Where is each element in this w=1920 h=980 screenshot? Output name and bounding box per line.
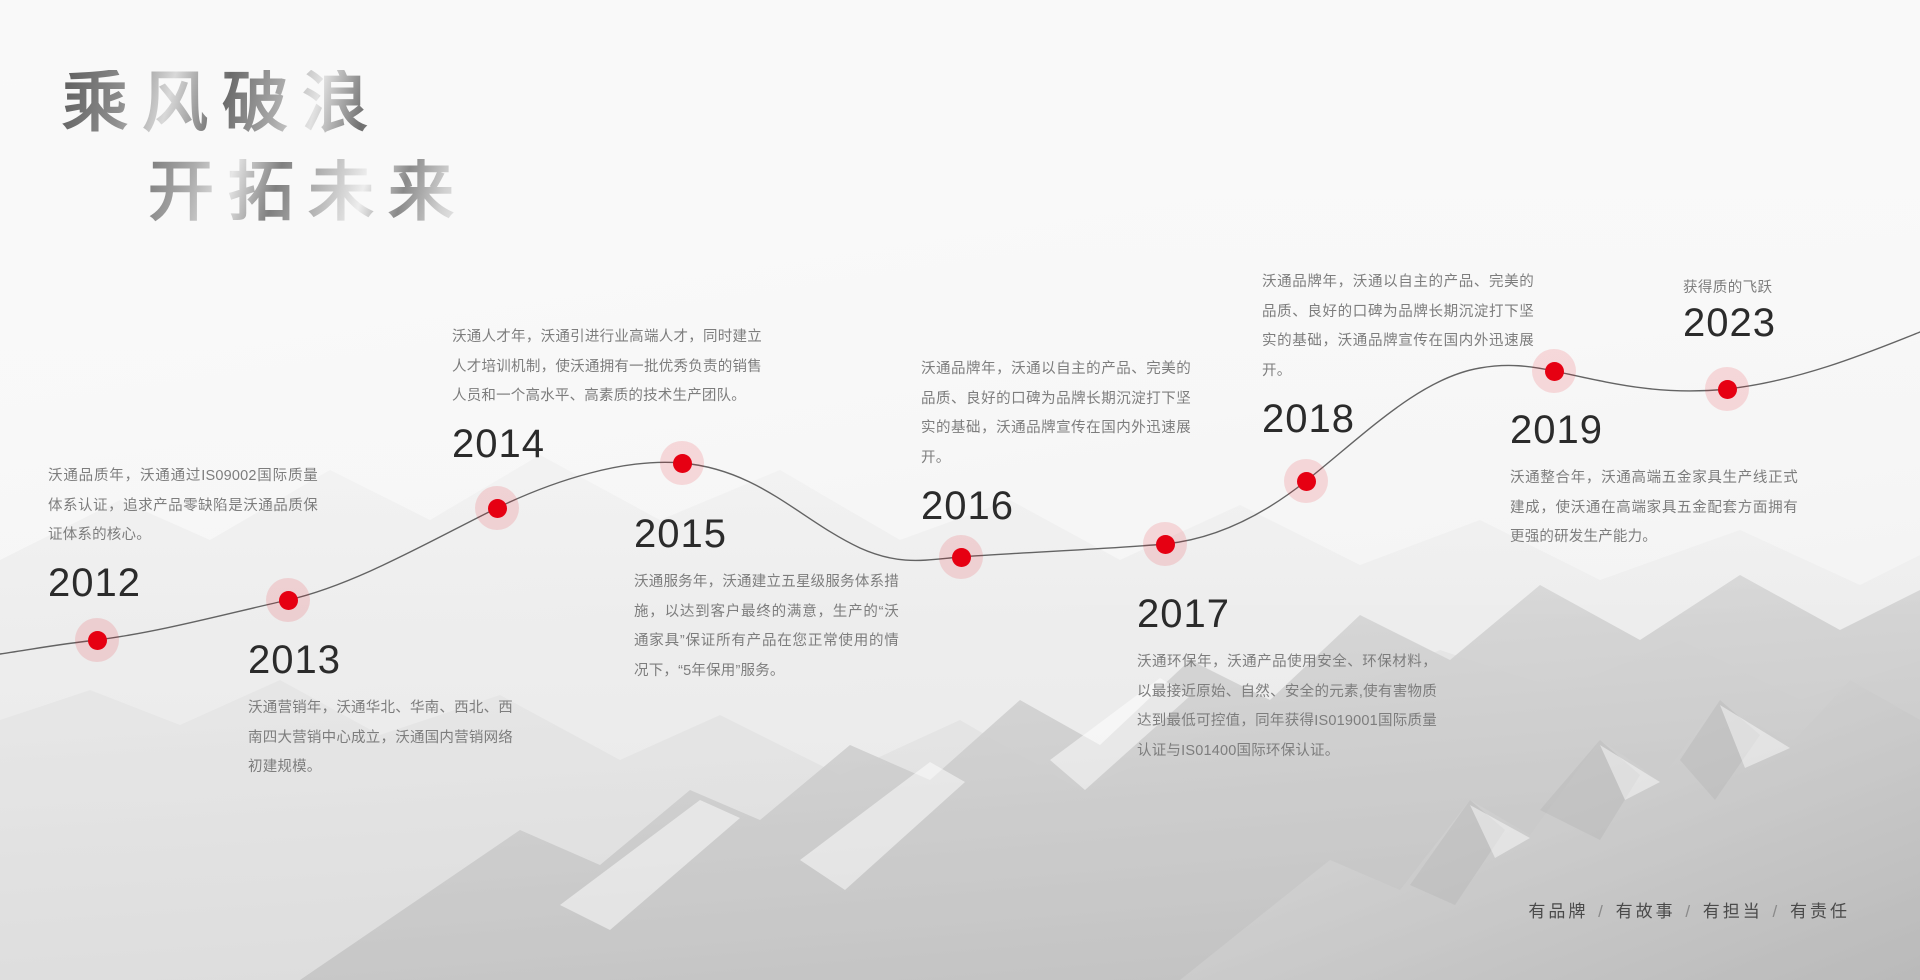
timeline-dot-2019[interactable] [1532, 349, 1576, 393]
timeline-poster: 乘风破浪 开拓未来 沃通品质年，沃通通过IS09002国际质量体系认证，追求产品… [0, 0, 1920, 980]
milestone-2014[interactable]: 沃通人才年，沃通引进行业高端人才，同时建立人才培训机制，使沃通拥有一批优秀负责的… [452, 323, 762, 466]
timeline-dot-2012[interactable] [75, 618, 119, 662]
milestone-2019-year: 2019 [1510, 408, 1798, 452]
milestone-2018-year: 2018 [1262, 397, 1534, 441]
milestone-2019[interactable]: 2019 沃通整合年，沃通高端五金家具生产线正式建成，使沃通在高端家具五金配套方… [1510, 408, 1798, 553]
timeline-dot-2014[interactable] [475, 486, 519, 530]
footer-tagline: 有品牌 / 有故事 / 有担当 / 有责任 [1528, 897, 1850, 922]
milestone-2017-year: 2017 [1137, 592, 1437, 636]
milestone-2013[interactable]: 2013 沃通营销年，沃通华北、华南、西北、西南四大营销中心成立，沃通国内营销网… [248, 638, 513, 783]
timeline-dot-2017[interactable] [1143, 522, 1187, 566]
milestone-2013-year: 2013 [248, 638, 513, 682]
poster-heading: 乘风破浪 开拓未来 [62, 70, 468, 227]
timeline-dot-2018[interactable] [1284, 459, 1328, 503]
milestone-2012[interactable]: 沃通品质年，沃通通过IS09002国际质量体系认证，追求产品零缺陷是沃通品质保证… [48, 462, 318, 605]
milestone-2023-year: 2023 [1683, 301, 1883, 345]
milestone-2014-description: 沃通人才年，沃通引进行业高端人才，同时建立人才培训机制，使沃通拥有一批优秀负责的… [452, 323, 762, 412]
tagline-part-story: 有故事 [1616, 902, 1676, 921]
tagline-part-commitment: 有担当 [1703, 902, 1763, 921]
milestone-2016-year: 2016 [921, 484, 1191, 528]
milestone-2015-description: 沃通服务年，沃通建立五星级服务体系措施，以达到客户最终的满意，生产的“沃通家具”… [634, 568, 899, 687]
tagline-part-brand: 有品牌 [1528, 902, 1588, 921]
milestone-2023-caption: 获得质的飞跃 [1683, 275, 1883, 301]
milestone-2014-year: 2014 [452, 422, 762, 466]
milestone-2015[interactable]: 2015 沃通服务年，沃通建立五星级服务体系措施，以达到客户最终的满意，生产的“… [634, 512, 899, 687]
heading-line-2: 开拓未来 [148, 159, 468, 226]
milestone-2018[interactable]: 沃通品牌年，沃通以自主的产品、完美的品质、良好的口碑为品牌长期沉淀打下坚实的基础… [1262, 268, 1534, 441]
tagline-separator-2: / [1683, 902, 1695, 921]
milestone-2015-year: 2015 [634, 512, 899, 556]
milestone-2012-year: 2012 [48, 561, 318, 605]
tagline-separator-3: / [1771, 902, 1783, 921]
milestone-2016[interactable]: 沃通品牌年，沃通以自主的产品、完美的品质、良好的口碑为品牌长期沉淀打下坚实的基础… [921, 355, 1191, 528]
milestone-2017-description: 沃通环保年，沃通产品使用安全、环保材料，以最接近原始、自然、安全的元素,使有害物… [1137, 648, 1437, 767]
milestone-2018-description: 沃通品牌年，沃通以自主的产品、完美的品质、良好的口碑为品牌长期沉淀打下坚实的基础… [1262, 268, 1534, 387]
milestone-2013-description: 沃通营销年，沃通华北、华南、西北、西南四大营销中心成立，沃通国内营销网络初建规模… [248, 694, 513, 783]
milestone-2017[interactable]: 2017 沃通环保年，沃通产品使用安全、环保材料，以最接近原始、自然、安全的元素… [1137, 592, 1437, 767]
timeline-dot-2016[interactable] [939, 535, 983, 579]
heading-line-1: 乘风破浪 [62, 70, 468, 137]
milestone-2016-description: 沃通品牌年，沃通以自主的产品、完美的品质、良好的口碑为品牌长期沉淀打下坚实的基础… [921, 355, 1191, 474]
tagline-part-responsibility: 有责任 [1790, 902, 1850, 921]
milestone-2019-description: 沃通整合年，沃通高端五金家具生产线正式建成，使沃通在高端家具五金配套方面拥有更强… [1510, 464, 1798, 553]
milestone-2023[interactable]: 获得质的飞跃 2023 [1683, 275, 1883, 345]
tagline-separator-1: / [1596, 902, 1608, 921]
milestone-2012-description: 沃通品质年，沃通通过IS09002国际质量体系认证，追求产品零缺陷是沃通品质保证… [48, 462, 318, 551]
timeline-dot-2023[interactable] [1705, 367, 1749, 411]
